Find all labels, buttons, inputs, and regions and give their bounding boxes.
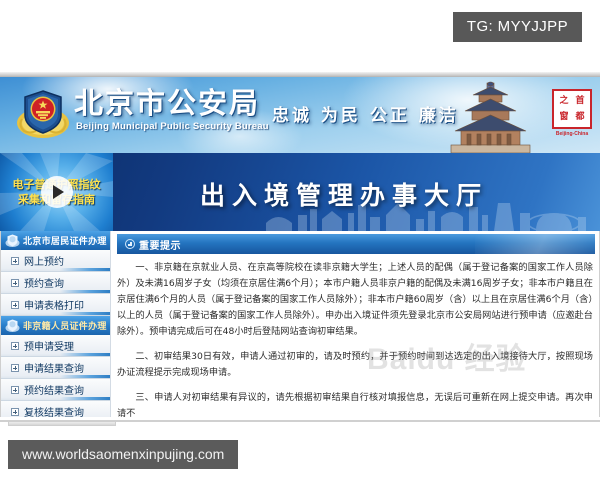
item-accent-bar	[60, 353, 110, 356]
org-name-chinese: 北京市公安局	[74, 89, 260, 118]
captured-web-page: 北京市公安局 Beijing Municipal Public Security…	[0, 72, 600, 422]
sidebar-group-label: 北京市居民证件办理	[23, 234, 107, 247]
site-header-banner: 北京市公安局 Beijing Municipal Public Security…	[0, 77, 600, 153]
expand-plus-icon	[11, 386, 19, 394]
panel-header-important-notice: 重要提示	[117, 234, 595, 254]
hero-title: 出入境管理办事大厅	[200, 176, 488, 212]
sidebar-item-label: 预约查询	[24, 275, 64, 290]
expand-plus-icon	[11, 364, 19, 372]
tg-handle-badge: TG: MYYJJPP	[453, 12, 582, 42]
seal-english-label: Beijing-China	[554, 131, 590, 137]
page-body: 北京市居民证件办理 网上预约 预约查询 申请表格打印	[0, 231, 600, 417]
sidebar-item-form-print[interactable]: 申请表格打印	[1, 294, 110, 316]
item-accent-bar	[60, 375, 110, 378]
expand-plus-icon	[11, 279, 19, 287]
item-accent-bar	[60, 397, 110, 400]
police-badge-mini-icon	[5, 318, 20, 333]
notice-text-body: 一、非京籍在京就业人员、在京高等院校在读非京籍大学生；上述人员的配偶（属于登记备…	[117, 260, 593, 417]
screenshot-root: TG: MYYJJPP 北京市公安局 Beijing Munici	[0, 0, 600, 480]
header-gloss-decoration	[475, 234, 595, 254]
sidebar-group-label: 非京籍人员证件办理	[23, 319, 107, 332]
seal-char-4: 都	[572, 109, 588, 125]
sidebar-item-label: 申请表格打印	[24, 297, 84, 312]
sidebar-group-header-resident[interactable]: 北京市居民证件办理	[1, 231, 110, 250]
panel-title: 重要提示	[139, 237, 181, 252]
police-badge-mini-icon	[5, 233, 20, 248]
sidebar-item-label: 预申请受理	[24, 338, 74, 353]
sidebar-item-appointment-result[interactable]: 预约结果查询	[1, 379, 110, 401]
url-watermark-badge: www.worldsaomenxinpujing.com	[8, 440, 238, 469]
seal-char-2: 首	[572, 93, 588, 109]
sidebar-navigation: 北京市居民证件办理 网上预约 预约查询 申请表格打印	[1, 231, 111, 417]
sidebar-item-label: 网上预约	[24, 253, 64, 268]
hero-banner: 出入境管理办事大厅 电子普通护照指纹 采集和留存指南	[0, 153, 600, 231]
header-slogan: 忠诚 为民 公正 廉洁	[272, 101, 459, 126]
expand-plus-icon	[11, 342, 19, 350]
page-footer-strip	[8, 421, 116, 426]
expand-plus-icon	[11, 301, 19, 309]
sidebar-item-online-appointment[interactable]: 网上预约	[1, 250, 110, 272]
notice-paragraph-2: 二、初审结果30日有效，申请人通过初审的，请及时预约，并于预约时间到达选定的出入…	[117, 349, 593, 381]
item-accent-bar	[60, 290, 110, 293]
expand-plus-icon	[11, 257, 19, 265]
org-name-english: Beijing Municipal Public Security Bureau	[76, 121, 269, 132]
sidebar-item-label: 预约结果查询	[24, 382, 84, 397]
sidebar-item-appointment-query[interactable]: 预约查询	[1, 272, 110, 294]
police-badge-icon	[14, 85, 72, 143]
main-content-panel: 重要提示 一、非京籍在京就业人员、在京高等院校在读非京籍大学生；上述人员的配偶（…	[111, 231, 599, 417]
seal-char-3: 窗	[556, 109, 572, 125]
temple-of-heaven-icon	[443, 81, 538, 153]
sidebar-item-application-result[interactable]: 申请结果查询	[1, 357, 110, 379]
capital-window-seal: 之 首 窗 都 Beijing-China	[552, 89, 592, 129]
item-accent-bar	[60, 268, 110, 271]
sidebar-item-pre-application[interactable]: 预申请受理	[1, 335, 110, 357]
expand-plus-icon	[11, 408, 19, 416]
video-thumbnail[interactable]: 电子普通护照指纹 采集和留存指南	[0, 153, 113, 231]
plus-circle-icon	[125, 239, 135, 249]
sidebar-item-review-result[interactable]: 复核结果查询	[1, 401, 110, 417]
notice-paragraph-1: 一、非京籍在京就业人员、在京高等院校在读非京籍大学生；上述人员的配偶（属于登记备…	[117, 260, 593, 340]
sidebar-group-header-nonresident[interactable]: 非京籍人员证件办理	[1, 316, 110, 335]
play-button-icon[interactable]	[41, 176, 73, 208]
item-accent-bar	[60, 312, 110, 315]
sidebar-item-label: 复核结果查询	[24, 404, 84, 417]
seal-char-1: 之	[556, 93, 572, 109]
notice-paragraph-3: 三、申请人对初审结果有异议的，请先根据初审结果自行核对填报信息，无误后可重新在网…	[117, 390, 593, 417]
sidebar-item-label: 申请结果查询	[24, 360, 84, 375]
